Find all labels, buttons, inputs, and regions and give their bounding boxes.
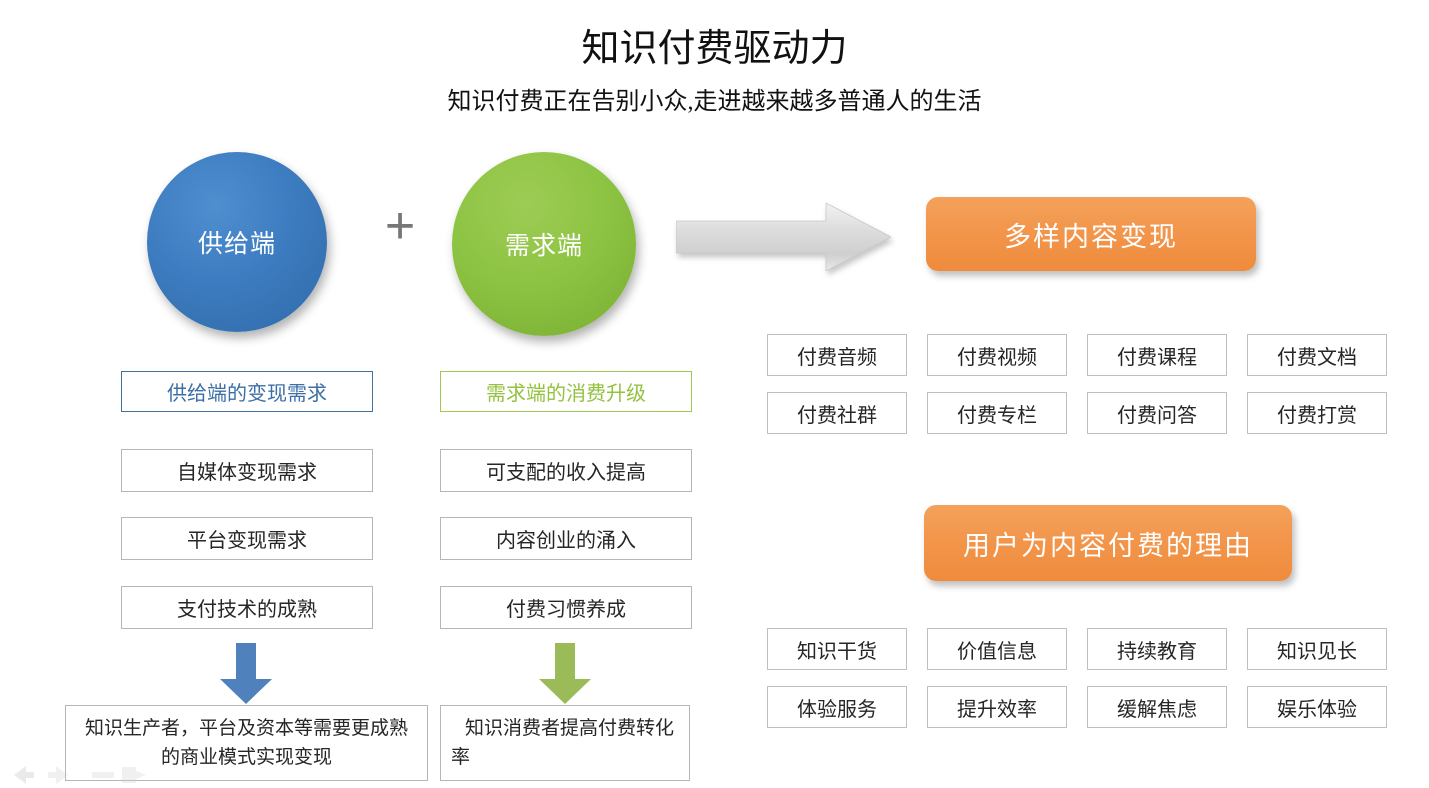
reason-tag-label: 价值信息 — [957, 635, 1037, 664]
demand-conclusion-text: 知识消费者提高付费转化率 — [451, 718, 674, 768]
plus-operator-icon: + — [378, 200, 422, 252]
reason-tag-label: 缓解焦虑 — [1117, 693, 1197, 722]
reason-tag: 价值信息 — [927, 628, 1067, 670]
monetization-tag: 付费课程 — [1087, 334, 1227, 376]
demand-item-1-label: 内容创业的涌入 — [496, 524, 636, 553]
demand-conclusion-box: 知识消费者提高付费转化率 — [440, 705, 690, 781]
monetization-tag: 付费视频 — [927, 334, 1067, 376]
reason-tag: 缓解焦虑 — [1087, 686, 1227, 728]
reason-tag: 提升效率 — [927, 686, 1067, 728]
right-arrow-icon — [676, 203, 891, 271]
monetization-tag-label: 付费音频 — [797, 341, 877, 370]
demand-side-circle-label: 需求端 — [505, 226, 583, 262]
supply-item-1-label: 平台变现需求 — [187, 524, 307, 553]
monetization-tag-grid: 付费音频 付费视频 付费课程 付费文档 付费社群 付费专栏 付费问答 付费打赏 — [767, 334, 1387, 434]
monetization-tag-label: 付费文档 — [1277, 341, 1357, 370]
demand-item-2-label: 付费习惯养成 — [506, 593, 626, 622]
monetization-tag: 付费社群 — [767, 392, 907, 434]
monetization-tag: 付费文档 — [1247, 334, 1387, 376]
demand-column-header-label: 需求端的消费升级 — [486, 377, 646, 406]
supply-item-0: 自媒体变现需求 — [121, 449, 373, 492]
reason-tag-label: 知识干货 — [797, 635, 877, 664]
reason-tag: 娱乐体验 — [1247, 686, 1387, 728]
monetization-tag-label: 付费问答 — [1117, 399, 1197, 428]
reason-tag-label: 体验服务 — [797, 693, 877, 722]
reasons-tag-grid: 知识干货 价值信息 持续教育 知识见长 体验服务 提升效率 缓解焦虑 娱乐体验 — [767, 628, 1387, 728]
demand-column-header: 需求端的消费升级 — [440, 371, 692, 412]
monetization-tag-label: 付费专栏 — [957, 399, 1037, 428]
demand-item-1: 内容创业的涌入 — [440, 517, 692, 560]
supply-column-header-label: 供给端的变现需求 — [167, 377, 327, 406]
monetization-tag-label: 付费课程 — [1117, 341, 1197, 370]
monetization-tag-label: 付费视频 — [957, 341, 1037, 370]
demand-item-0-label: 可支配的收入提高 — [486, 456, 646, 485]
supply-item-0-label: 自媒体变现需求 — [177, 456, 317, 485]
reason-tag: 知识干货 — [767, 628, 907, 670]
supply-item-1: 平台变现需求 — [121, 517, 373, 560]
reason-tag-label: 娱乐体验 — [1277, 693, 1357, 722]
supply-item-2-label: 支付技术的成熟 — [177, 593, 317, 622]
monetization-banner-label: 多样内容变现 — [1004, 215, 1178, 254]
supply-conclusion-text: 知识生产者，平台及资本等需要更成熟的商业模式实现变现 — [85, 718, 408, 768]
monetization-tag: 付费打赏 — [1247, 392, 1387, 434]
reason-tag-label: 持续教育 — [1117, 635, 1197, 664]
reason-tag-label: 提升效率 — [957, 693, 1037, 722]
reasons-banner-label: 用户为内容付费的理由 — [963, 524, 1253, 563]
monetization-banner: 多样内容变现 — [926, 197, 1256, 271]
page-subtitle: 知识付费正在告别小众,走进越来越多普通人的生活 — [0, 86, 1429, 118]
reason-tag: 知识见长 — [1247, 628, 1387, 670]
monetization-tag-label: 付费社群 — [797, 399, 877, 428]
supply-side-circle-label: 供给端 — [198, 224, 276, 260]
demand-down-arrow-icon — [537, 643, 593, 705]
navigation-arrows-icon[interactable] — [4, 762, 154, 788]
monetization-tag: 付费专栏 — [927, 392, 1067, 434]
demand-item-0: 可支配的收入提高 — [440, 449, 692, 492]
supply-down-arrow-icon — [218, 643, 274, 705]
reason-tag: 体验服务 — [767, 686, 907, 728]
supply-column-header: 供给端的变现需求 — [121, 371, 373, 412]
demand-side-circle: 需求端 — [452, 152, 636, 336]
monetization-tag-label: 付费打赏 — [1277, 399, 1357, 428]
supply-item-2: 支付技术的成熟 — [121, 586, 373, 629]
demand-item-2: 付费习惯养成 — [440, 586, 692, 629]
reason-tag-label: 知识见长 — [1277, 635, 1357, 664]
supply-side-circle: 供给端 — [147, 152, 327, 332]
monetization-tag: 付费音频 — [767, 334, 907, 376]
page-title: 知识付费驱动力 — [0, 26, 1429, 72]
reasons-banner: 用户为内容付费的理由 — [924, 505, 1292, 581]
monetization-tag: 付费问答 — [1087, 392, 1227, 434]
reason-tag: 持续教育 — [1087, 628, 1227, 670]
